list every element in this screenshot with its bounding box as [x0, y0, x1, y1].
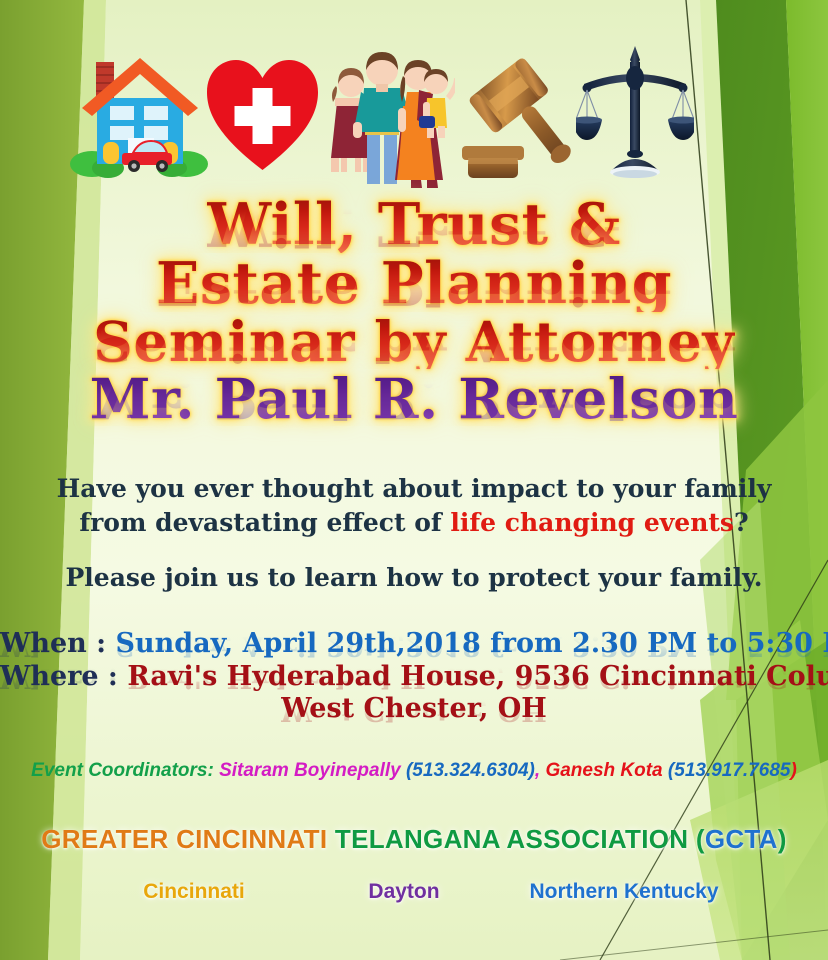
title-line-3: Seminar by Attorney Seminar by Attorney [0, 314, 828, 369]
body-line-2: from devastating effect of life changing… [0, 506, 828, 540]
poster-title: Will, Trust & Will, Trust & Estate Plann… [0, 196, 828, 428]
body-line-1: Have you ever thought about impact to yo… [0, 472, 828, 506]
where-face: Where : Ravi's Hyderabad House, 9536 Cin… [0, 663, 828, 692]
body-line-3: Please join us to learn how to protect y… [0, 561, 828, 595]
title-line-2-text: Estate Planning [156, 255, 672, 312]
title-line-4-text: Mr. Paul R. Revelson [90, 371, 739, 426]
coordinator-1-phone[interactable]: (513.324.6304) [406, 760, 535, 781]
when-line: When : Sunday, April 29th,2018 from 2.30… [0, 630, 828, 659]
org-paren-close: ) [778, 824, 787, 854]
organization-name: GREATER CINCINNATI TELANGANA ASSOCIATION… [0, 824, 828, 855]
chapter-cities: Cincinnati Dayton Northern Kentucky [0, 880, 828, 904]
city-dayton: Dayton [309, 880, 499, 904]
coordinator-2-name: Ganesh Kota [545, 760, 667, 781]
coordinator-2-phone[interactable]: (513.917.7685 [668, 760, 791, 781]
title-line-2: Estate Planning Estate Planning [0, 255, 828, 312]
body-spacer [0, 539, 828, 561]
body-line-2-highlight: life changing events [450, 508, 734, 537]
when-label: When : [0, 628, 116, 659]
coordinators-label: Event Coordinators: [31, 760, 219, 781]
where-value-2: West Chester, OH [281, 695, 547, 724]
coordinator-2-phone-close: ) [790, 760, 796, 781]
where-line-1: Where : Ravi's Hyderabad House, 9536 Cin… [0, 663, 828, 692]
coordinator-separator: , [535, 760, 546, 781]
title-line-3-text: Seminar by Attorney [93, 314, 735, 369]
org-part-1: GREATER CINCINNATI [41, 824, 335, 854]
org-part-2: TELANGANA ASSOCIATION [335, 824, 696, 854]
org-paren-open: ( [696, 824, 705, 854]
heart-medical-icon [205, 58, 320, 176]
where-label: Where : [0, 661, 127, 692]
event-details: When : Sunday, April 29th,2018 from 2.30… [0, 630, 828, 728]
when-face: When : Sunday, April 29th,2018 from 2.30… [0, 630, 828, 659]
header-icon-strip [0, 40, 828, 190]
title-line-1: Will, Trust & Will, Trust & [0, 196, 828, 253]
city-cincinnati: Cincinnati [79, 880, 309, 904]
title-line-1-text: Will, Trust & [207, 196, 621, 253]
body-line-2-prefix: from devastating effect of [79, 508, 450, 537]
when-value: Sunday, April 29th,2018 from 2.30 PM to … [116, 628, 828, 659]
gavel-icon [460, 48, 580, 183]
city-northern-kentucky: Northern Kentucky [499, 880, 749, 904]
where-value-1: Ravi's Hyderabad House, 9536 Cincinnati … [127, 661, 828, 692]
org-acronym: GCTA [705, 824, 778, 854]
where-line-2: West Chester, OH West Chester, OH [0, 695, 828, 724]
family-icon [315, 40, 455, 190]
scales-of-justice-icon [576, 44, 694, 186]
poster-body-copy: Have you ever thought about impact to yo… [0, 472, 828, 595]
house-icon [70, 54, 210, 179]
title-line-4: Mr. Paul R. Revelson Mr. Paul R. Revelso… [0, 371, 828, 426]
body-line-2-suffix: ? [734, 508, 749, 537]
event-coordinators: Event Coordinators: Sitaram Boyinepally … [0, 760, 828, 782]
coordinator-1-name: Sitaram Boyinepally [219, 760, 406, 781]
poster-canvas: Will, Trust & Will, Trust & Estate Plann… [0, 0, 828, 960]
